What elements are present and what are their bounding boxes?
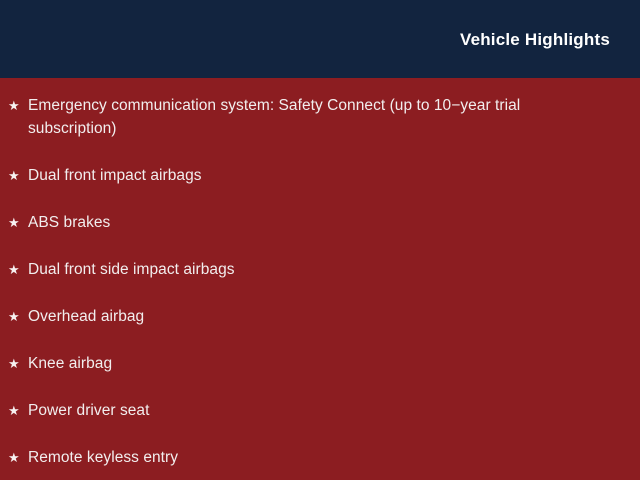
vehicle-highlights-list: ★ Emergency communication system: Safety… [8,94,606,469]
list-item: ★ Dual front impact airbags [8,164,606,187]
vehicle-highlights-slide: Vehicle Highlights ★ Emergency communica… [0,0,640,480]
slide-body: ★ Emergency communication system: Safety… [0,78,640,480]
list-item-label: Overhead airbag [28,305,606,328]
star-icon: ★ [8,305,28,328]
star-icon: ★ [8,94,28,117]
slide-header: Vehicle Highlights [0,0,640,78]
list-item: ★ Remote keyless entry [8,446,606,469]
list-item-label: Dual front impact airbags [28,164,606,187]
list-item: ★ ABS brakes [8,211,606,234]
list-item: ★ Power driver seat [8,399,606,422]
list-item-label: Dual front side impact airbags [28,258,606,281]
star-icon: ★ [8,399,28,422]
list-item-label: ABS brakes [28,211,606,234]
list-item-label: Knee airbag [28,352,606,375]
star-icon: ★ [8,211,28,234]
page-title: Vehicle Highlights [460,31,610,48]
star-icon: ★ [8,258,28,281]
list-item: ★ Dual front side impact airbags [8,258,606,281]
list-item-label: Remote keyless entry [28,446,606,469]
list-item-label: Power driver seat [28,399,606,422]
star-icon: ★ [8,164,28,187]
list-item: ★ Knee airbag [8,352,606,375]
list-item-label: Emergency communication system: Safety C… [28,94,606,140]
list-item: ★ Emergency communication system: Safety… [8,94,606,140]
star-icon: ★ [8,352,28,375]
list-item: ★ Overhead airbag [8,305,606,328]
star-icon: ★ [8,446,28,469]
